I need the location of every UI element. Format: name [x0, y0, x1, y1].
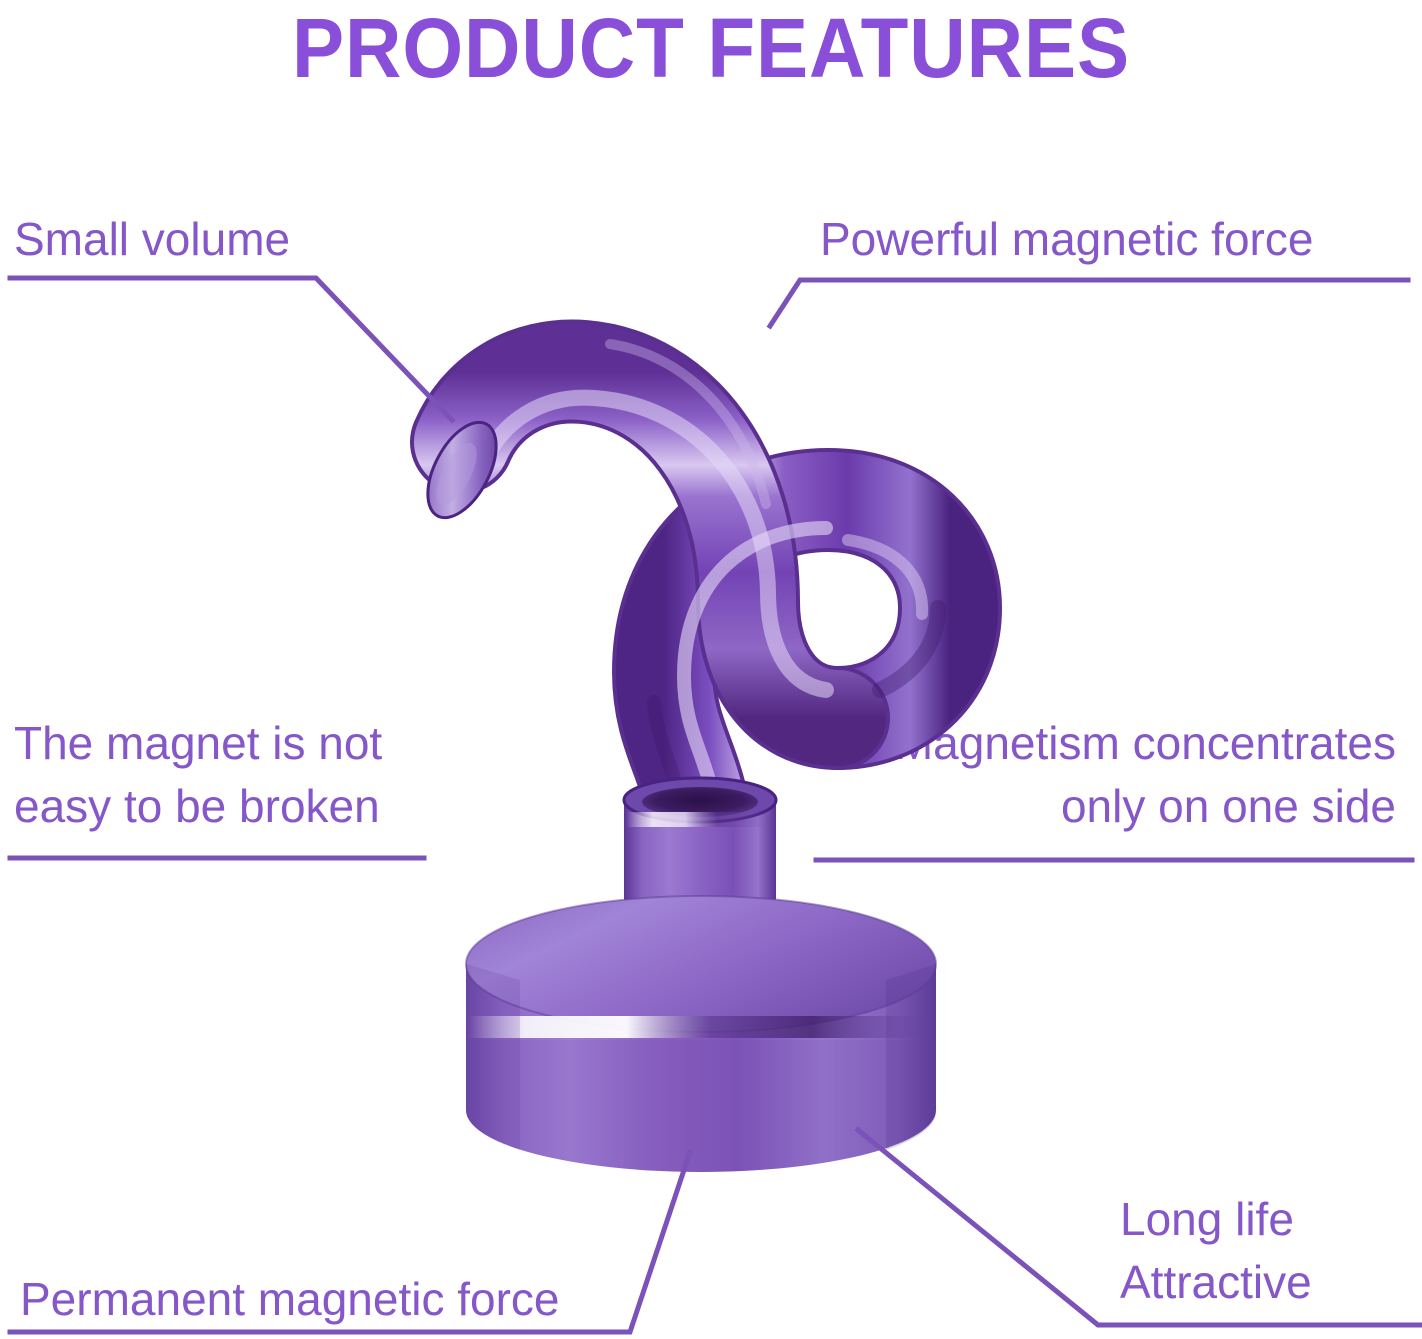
callout-line-1: The magnet is not [14, 712, 444, 775]
infographic-canvas: PRODUCT FEATURES Small volume Powerful m… [0, 0, 1422, 1339]
leader-powerful [770, 280, 1408, 326]
leader-lines [0, 0, 1422, 1339]
callout-line-1: Magnetism concentrates [806, 712, 1396, 775]
callout-magnet-not-broken: The magnet is not easy to be broken [14, 712, 444, 838]
callout-line-2: only on one side [806, 775, 1396, 838]
leader-small-volume [10, 278, 452, 420]
callout-small-volume: Small volume [14, 208, 290, 271]
product-illustration [0, 0, 1422, 1339]
magnet-disc-shape [466, 896, 936, 1172]
page-title: PRODUCT FEATURES [50, 2, 1372, 94]
callout-line-1: Long life [1120, 1188, 1400, 1251]
callout-permanent-magnetic-force: Permanent magnetic force [20, 1268, 560, 1331]
collar-shape [604, 778, 796, 976]
callout-line-2: Attractive [1120, 1251, 1400, 1314]
callout-line-2: easy to be broken [14, 775, 444, 838]
callout-magnetism-concentrates: Magnetism concentrates only on one side [806, 712, 1396, 838]
callout-powerful-magnetic-force: Powerful magnetic force [820, 208, 1313, 271]
callout-long-life-attractive: Long life Attractive [1120, 1188, 1400, 1314]
